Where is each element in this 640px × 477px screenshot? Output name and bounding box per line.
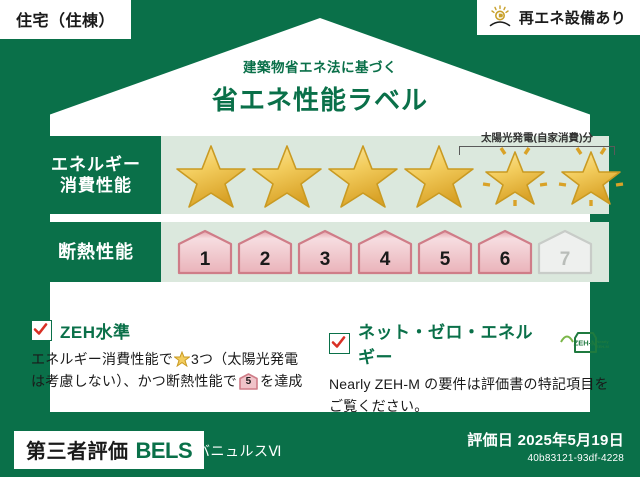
title-main: 省エネ性能ラベル (0, 80, 640, 117)
insulation-label-text: 断熱性能 (58, 241, 134, 264)
svg-text:ZEH-M: ZEH-M (574, 339, 598, 348)
solar-self-consumption-note: 太陽光発電(自家消費)分 (453, 130, 621, 155)
star-filled-2 (251, 140, 323, 210)
grade-badge-3: 3 (297, 229, 353, 275)
solar-note-text: 太陽光発電(自家消費)分 (453, 130, 621, 145)
energy-performance-label-box: エネルギー 消費性能 (31, 136, 161, 214)
grade-number-2: 2 (237, 249, 293, 271)
zeh-standard-description: エネルギー消費性能で3つ（太陽光発電は考慮しない）、かつ断熱性能で5を達成 (31, 349, 311, 392)
building-type-tag: 住宅（住棟） (0, 0, 131, 39)
bels-en-text: BELS (136, 438, 193, 464)
grade-number-4: 4 (357, 249, 413, 271)
bels-certification-badge: 第三者評価 BELS (14, 431, 204, 469)
grade-badge-2: 2 (237, 229, 293, 275)
grade-number-5: 5 (417, 249, 473, 271)
evaluation-uid: 40b83121-93df-4228 (467, 453, 624, 464)
energy-performance-row: エネルギー 消費性能 太陽光発電(自家消費)分 (31, 136, 609, 214)
inline-grade-house-icon: 5 (239, 373, 258, 390)
evaluation-info: 評価日 2025年5月19日 40b83121-93df-4228 (467, 429, 624, 464)
energy-stars-area: 太陽光発電(自家消費)分 (161, 136, 627, 214)
grade-badge-6: 6 (477, 229, 533, 275)
grade-badge-7: 7 (537, 229, 593, 275)
grade-badge-4: 4 (357, 229, 413, 275)
net-zero-energy-description: Nearly ZEH-M の要件は評価書の特記項目をご覧ください。 (329, 374, 609, 417)
solar-note-bracket (459, 146, 615, 155)
star-filled-3 (327, 140, 399, 210)
zeh-standard-title: ZEH水準 (60, 318, 131, 343)
building-type-text: 住宅（住棟） (16, 13, 115, 30)
net-zero-energy-header: ネット・ゼロ・エネルギー ZEH-M Nearly ZEH-M (329, 318, 609, 368)
bels-jp-text: 第三者評価 (26, 435, 129, 464)
grade-number-3: 3 (297, 249, 353, 271)
criteria-section: ZEH水準 エネルギー消費性能で3つ（太陽光発電は考慮しない）、かつ断熱性能で5… (31, 318, 609, 417)
label-footer: 第三者評価 BELS バニュルスⅥ 評価日 2025年5月19日 40b8312… (0, 421, 640, 477)
net-zero-energy-checkbox[interactable] (329, 333, 350, 354)
svg-text:ZEH-M: ZEH-M (596, 344, 609, 349)
insulation-grades-area: 1 2 3 4 5 (161, 222, 609, 282)
label-title: 建築物省エネ法に基づく 省エネ性能ラベル (0, 56, 640, 117)
insulation-performance-row: 断熱性能 1 2 3 (31, 222, 609, 282)
grade-badge-5: 5 (417, 229, 473, 275)
evaluation-date: 評価日 2025年5月19日 (467, 429, 624, 450)
zeh-m-logo-icon: ZEH-M Nearly ZEH-M (557, 330, 609, 356)
renewable-equipment-badge: 再エネ設備あり (477, 0, 640, 35)
star-filled-1 (175, 140, 247, 210)
grade-number-7: 7 (537, 249, 593, 271)
zeh-standard-criterion: ZEH水準 エネルギー消費性能で3つ（太陽光発電は考慮しない）、かつ断熱性能で5… (31, 318, 311, 417)
title-subtitle: 建築物省エネ法に基づく (0, 56, 640, 76)
zeh-standard-checkbox[interactable] (31, 320, 52, 341)
energy-performance-label: 住宅（住棟） 再エネ設備あり 建築物省エネ法に基づく 省エネ性能ラベル (0, 0, 640, 477)
inline-star-icon (174, 351, 190, 367)
insulation-performance-label-box: 断熱性能 (31, 222, 161, 282)
net-zero-energy-title: ネット・ゼロ・エネルギー (358, 318, 545, 368)
grade-number-1: 1 (177, 249, 233, 271)
zeh-desc-part3: を達成 (260, 373, 303, 389)
inline-grade-value: 5 (239, 374, 258, 390)
zeh-standard-header: ZEH水準 (31, 318, 311, 343)
net-zero-energy-criterion: ネット・ゼロ・エネルギー ZEH-M Nearly ZEH-M Nearly Z… (329, 318, 609, 417)
zeh-desc-part1: エネルギー消費性能で (31, 351, 173, 367)
grade-scale: 1 2 3 4 5 (161, 229, 593, 275)
grade-badge-1: 1 (177, 229, 233, 275)
grade-number-6: 6 (477, 249, 533, 271)
renewable-badge-text: 再エネ設備あり (519, 7, 626, 28)
sun-solar-icon (487, 5, 513, 29)
energy-label-line2: 消費性能 (60, 175, 132, 196)
rating-rows: エネルギー 消費性能 太陽光発電(自家消費)分 (31, 136, 609, 290)
energy-label-line1: エネルギー (51, 154, 141, 175)
building-name: バニュルスⅥ (196, 441, 282, 461)
